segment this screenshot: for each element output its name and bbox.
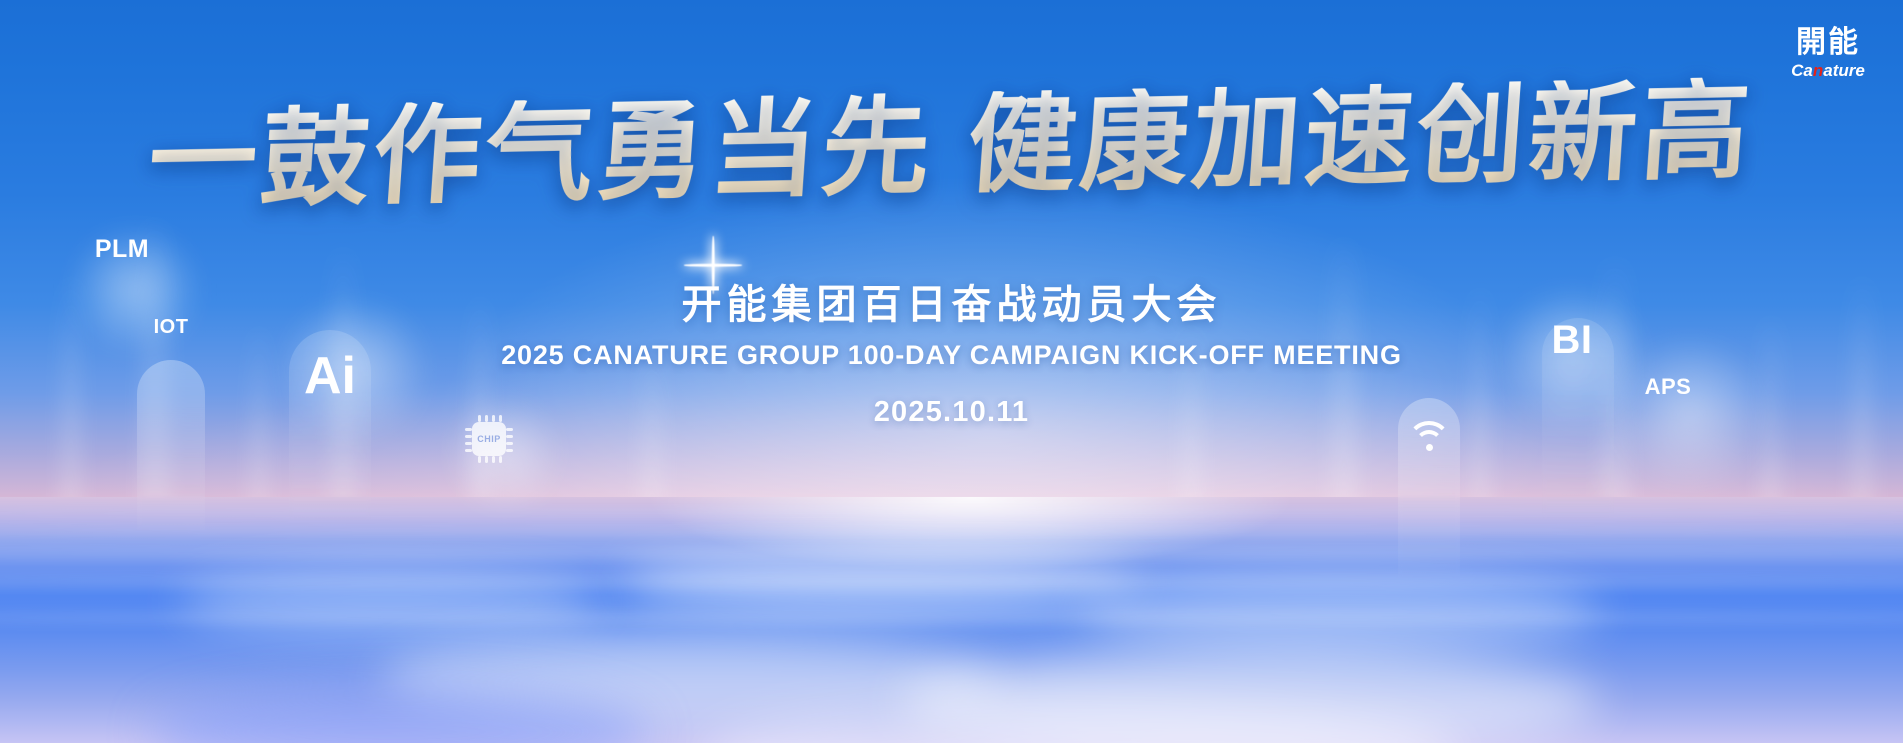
- badge-bi: BI: [1534, 318, 1610, 362]
- logo-wordmark-accent: n: [1813, 61, 1823, 80]
- headline-container: 一鼓作气勇当先健康加速创新高: [0, 92, 1903, 202]
- headline-calligraphy: 一鼓作气勇当先健康加速创新高: [146, 77, 1758, 218]
- logo-chinese-name: 開能: [1773, 28, 1883, 58]
- badge-plm: PLM: [85, 232, 159, 266]
- headline-phrase-2: 健康加速创新高: [964, 69, 1758, 209]
- event-banner: 開能 Canature 一鼓作气勇当先健康加速创新高 开能集团百日奋战动员大会 …: [0, 0, 1903, 743]
- subtitle-english: 2025 CANATURE GROUP 100-DAY CAMPAIGN KIC…: [0, 340, 1903, 371]
- logo-wordmark-part2: ature: [1823, 61, 1865, 80]
- event-date: 2025.10.11: [0, 396, 1903, 429]
- brand-logo[interactable]: 開能 Canature: [1773, 28, 1883, 79]
- badge-aps: APS: [1628, 373, 1708, 401]
- headline-spacer: [932, 183, 966, 184]
- logo-wordmark-part1: Ca: [1791, 61, 1813, 80]
- chip-icon: CHIP: [465, 415, 513, 463]
- logo-wordmark: Canature: [1773, 62, 1883, 79]
- wifi-glyph: [1407, 417, 1451, 451]
- badge-iot: IOT: [137, 312, 205, 342]
- subtitle-chinese: 开能集团百日奋战动员大会: [0, 272, 1903, 330]
- wifi-icon: [1398, 412, 1460, 456]
- badge-ai: Ai: [289, 348, 371, 404]
- headline-phrase-1: 一鼓作气勇当先: [145, 84, 939, 224]
- water-reflection: [0, 497, 1903, 743]
- chip-label: CHIP: [472, 422, 506, 456]
